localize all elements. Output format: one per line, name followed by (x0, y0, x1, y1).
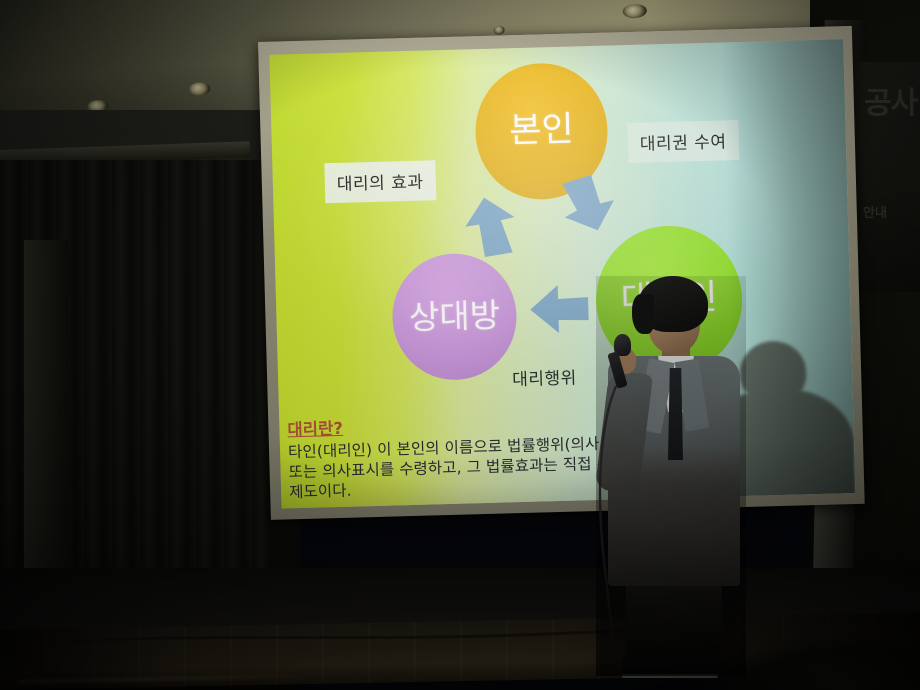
downlight-2 (188, 82, 211, 96)
slide-surface: 본인 대리인 상대방 (269, 39, 855, 508)
projection-screen: 본인 대리인 상대방 (258, 26, 865, 520)
presentation-scene: 공사 안내 본인 대리인 상대방 (0, 0, 920, 690)
circle-principal-label: 본인 (509, 113, 574, 150)
speaker-shoe-right (658, 658, 718, 675)
banner-title: 공사 (864, 90, 917, 118)
speaker-tie (668, 368, 683, 460)
label-effect: 대리의 효과 (324, 160, 436, 203)
wall-banner: 공사 안내 (856, 62, 920, 292)
label-act: 대리행위 (500, 356, 590, 398)
arrow-counterparty-to-principal-icon (463, 194, 519, 259)
downlight-5 (622, 3, 647, 18)
banner-subtitle: 안내 (863, 202, 887, 221)
label-grant: 대리권 수여 (627, 120, 739, 163)
downlight-4 (493, 25, 504, 35)
arrow-agent-to-counterparty-icon (528, 282, 591, 336)
speaker-figure (596, 276, 746, 676)
circle-counterparty-label: 상대방 (409, 299, 501, 335)
slide-heading: 대리란? (287, 418, 343, 441)
floor-highlight (18, 674, 318, 684)
speaker-hair (638, 276, 708, 332)
arrow-principal-to-agent-icon (557, 173, 619, 237)
speaker-legs (626, 578, 722, 666)
